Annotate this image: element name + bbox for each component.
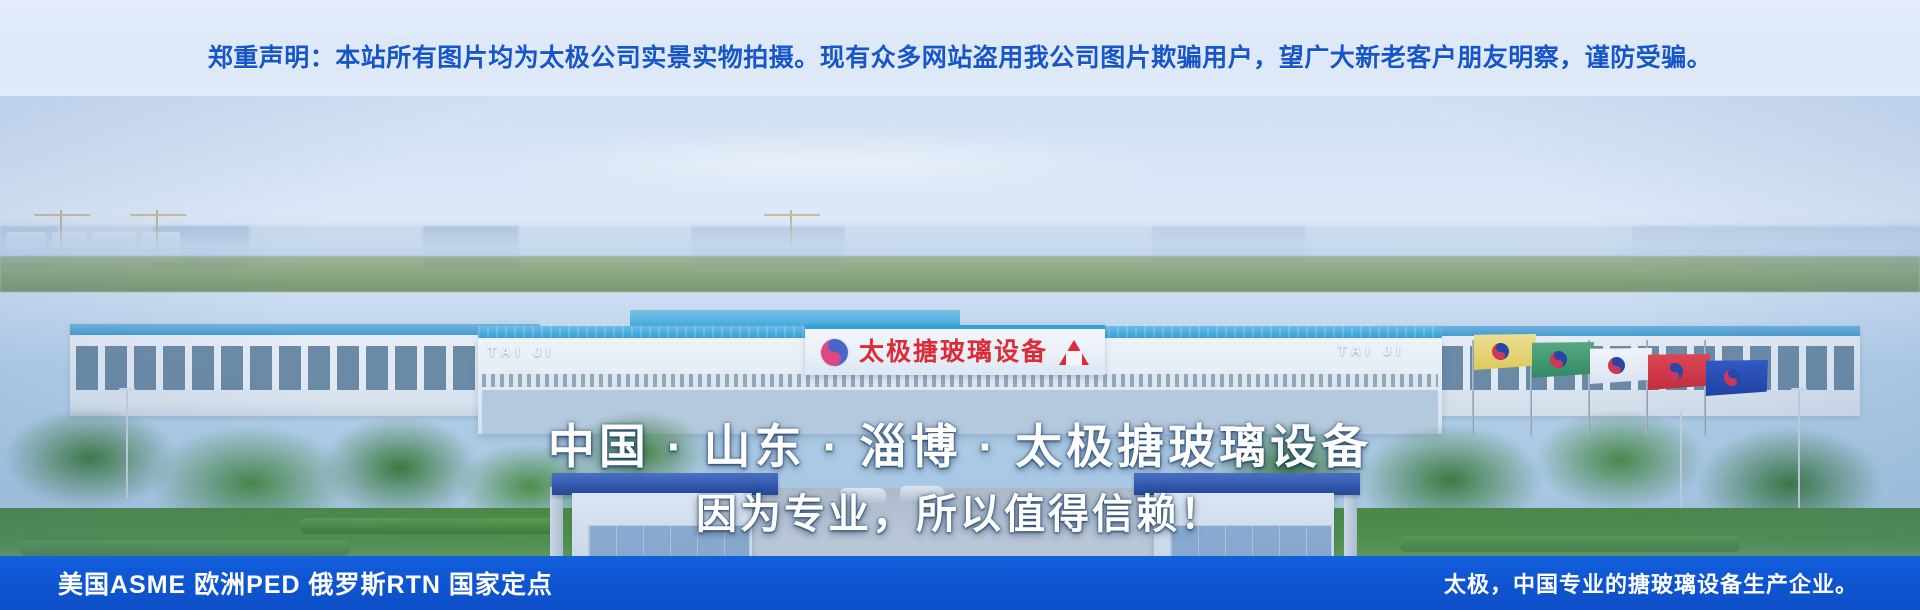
certifications-text: 美国ASME 欧洲PED 俄罗斯RTN 国家定点 xyxy=(58,565,553,601)
parked-car xyxy=(900,486,944,501)
gate-window xyxy=(588,525,750,556)
gate-body xyxy=(572,493,752,556)
gate-pillar xyxy=(1344,487,1357,556)
parked-car xyxy=(840,488,886,503)
roof-band xyxy=(70,324,540,335)
gate-canopy xyxy=(552,473,778,495)
street-lamp xyxy=(1680,408,1682,508)
flag-row xyxy=(1468,316,1758,436)
gate-canopy xyxy=(1134,473,1360,495)
company-sign-text: 太极搪玻璃设备 xyxy=(859,340,1048,365)
company-sign: 太极搪玻璃设备 xyxy=(805,325,1105,375)
arrow-mark-icon xyxy=(1059,340,1089,365)
footer-slogan: 太极，中国专业的搪玻璃设备生产企业。 xyxy=(1444,567,1858,599)
gate-pillar xyxy=(550,487,563,556)
right-gatehouse xyxy=(1148,473,1346,556)
hall-clerestory xyxy=(482,374,1438,387)
flag-blue xyxy=(1706,360,1768,396)
yin-yang-icon xyxy=(821,339,848,366)
foreground-road xyxy=(0,540,1920,556)
flag-red xyxy=(1648,354,1710,390)
flag-white xyxy=(1590,348,1652,384)
street-lamp xyxy=(1798,388,1800,508)
window-band xyxy=(76,346,534,390)
flag-green xyxy=(1532,342,1594,378)
banner-stage: 郑重声明：本站所有图片均为太极公司实景实物拍摄。现有众多网站盗用我公司图片欺骗用… xyxy=(0,0,1920,610)
gate-window xyxy=(1170,525,1332,556)
flag-yellow xyxy=(1474,334,1536,370)
left-gatehouse xyxy=(566,473,764,556)
factory-photo: TAI JI TAI JI 太极搪玻璃设备 xyxy=(0,88,1920,556)
footer-bar: 美国ASME 欧洲PED 俄罗斯RTN 国家定点 太极，中国专业的搪玻璃设备生产… xyxy=(0,556,1920,610)
roof-label-left: TAI JI xyxy=(488,343,555,359)
background-greenbelt xyxy=(0,256,1920,292)
flag-pole xyxy=(1472,340,1474,436)
gate-body xyxy=(1154,493,1334,556)
roof-label-right: TAI JI xyxy=(1338,342,1405,358)
street-lamp xyxy=(126,388,128,498)
horizon-haze xyxy=(0,218,1920,258)
hedge xyxy=(300,518,560,534)
notice-text: 郑重声明：本站所有图片均为太极公司实景实物拍摄。现有众多网站盗用我公司图片欺骗用… xyxy=(208,22,1713,74)
notice-banner: 郑重声明：本站所有图片均为太极公司实景实物拍摄。现有众多网站盗用我公司图片欺骗用… xyxy=(0,0,1920,96)
